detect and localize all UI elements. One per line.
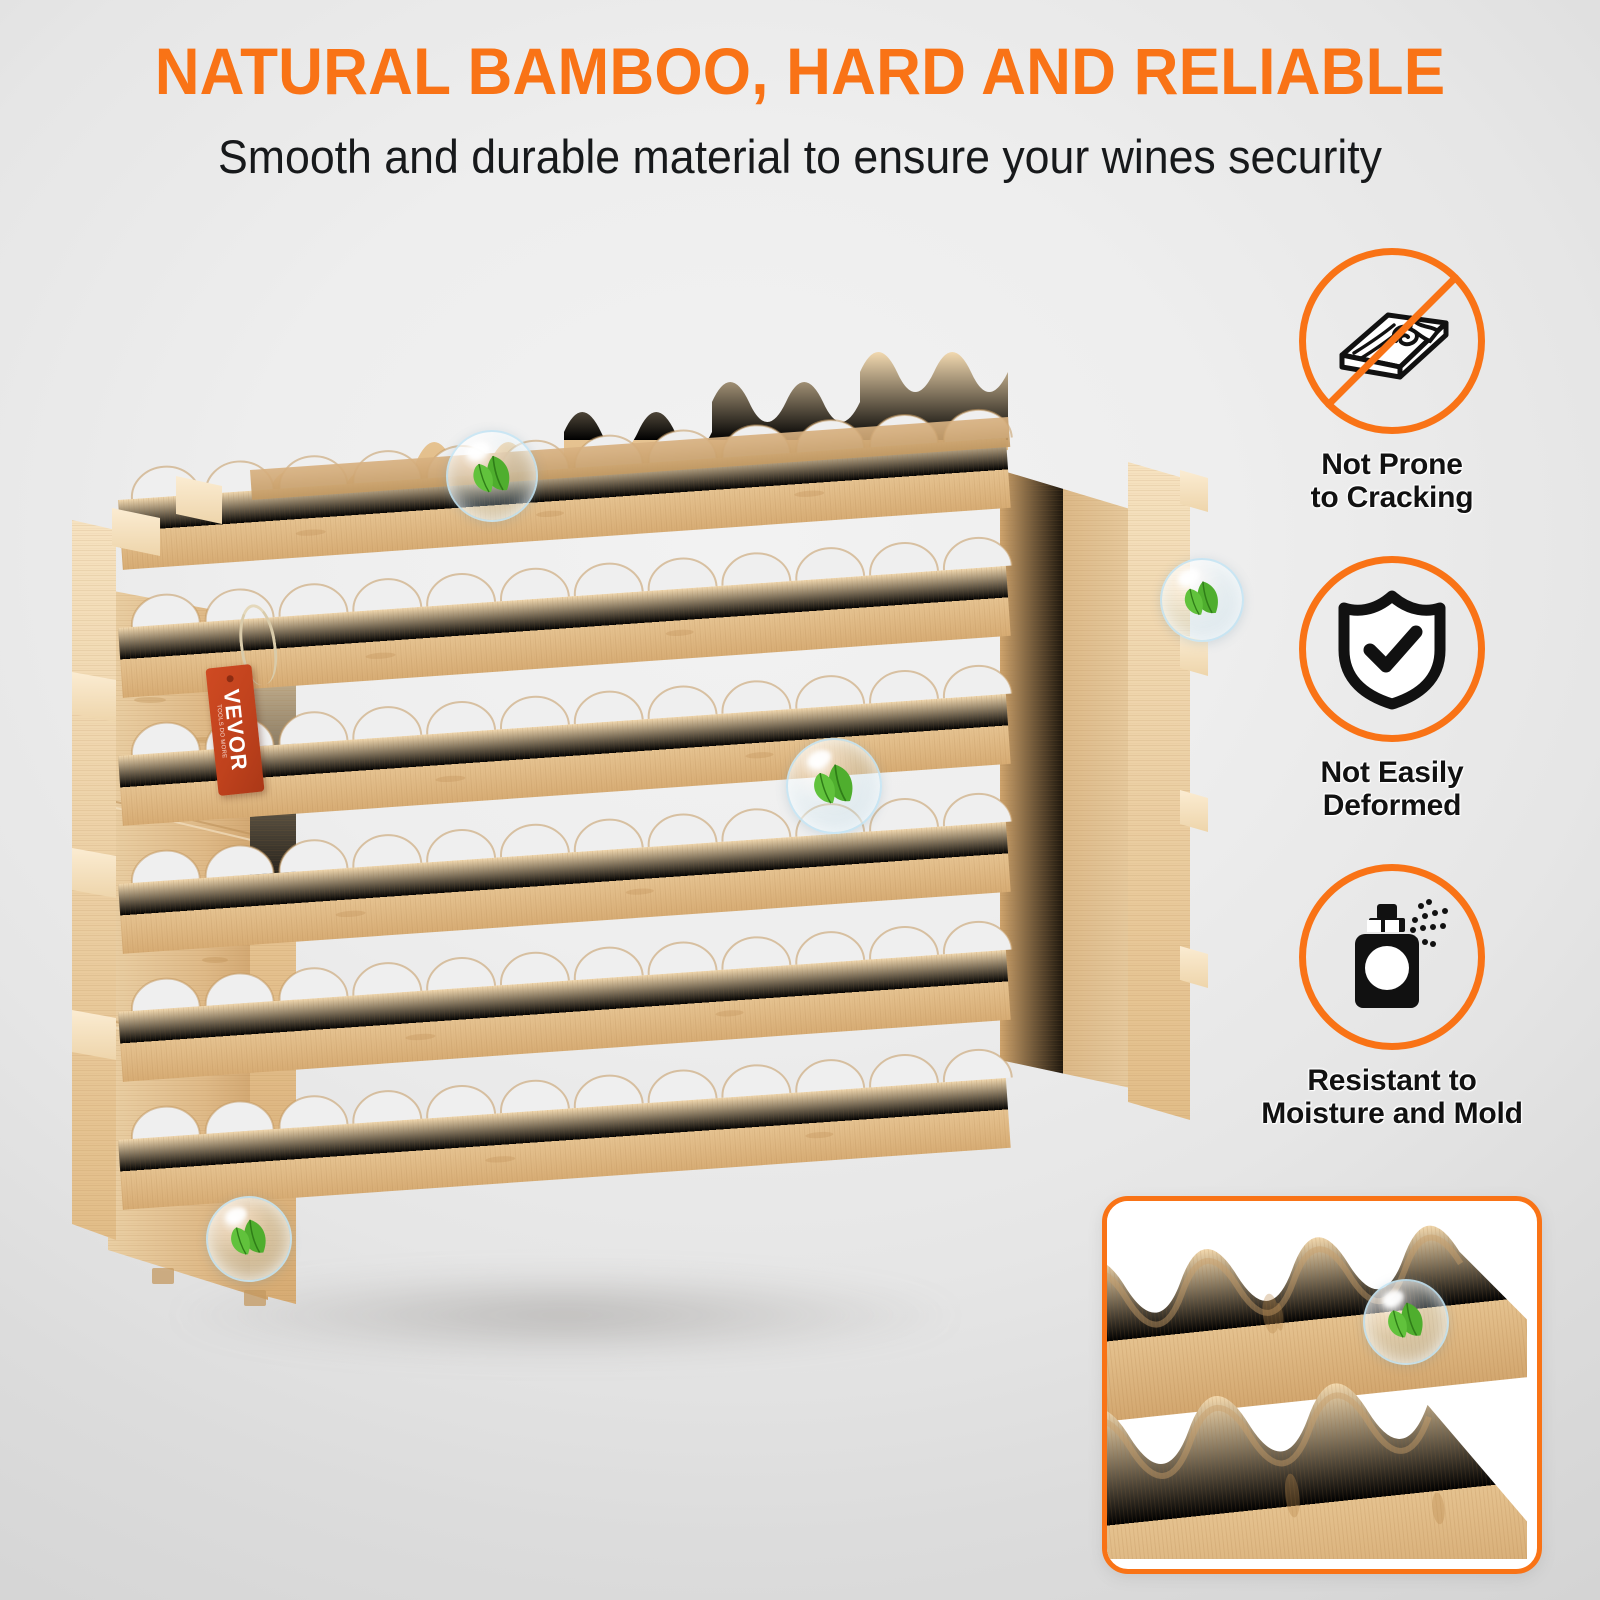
spray-bottle-icon (1299, 864, 1485, 1050)
cracked-plank-prohibited-icon (1299, 248, 1485, 434)
feature-label-line-2: Moisture and Mold (1242, 1097, 1542, 1130)
feature-label-line-2: Deformed (1242, 789, 1542, 822)
product-photo: VEVOR TOOLS DO MORE (0, 0, 1260, 1420)
product-infographic: NATURAL BAMBOO, HARD AND RELIABLE Smooth… (0, 0, 1600, 1600)
feature-not-easily-deformed: Not Easily Deformed (1242, 556, 1542, 822)
feature-label-line-1: Not Easily (1242, 756, 1542, 789)
feature-label-line-2: to Cracking (1242, 481, 1542, 514)
leaf-icon (786, 738, 882, 834)
leaf-icon (1363, 1279, 1449, 1365)
feature-label: Resistant to Moisture and Mold (1242, 1064, 1542, 1130)
wine-rack-illustration (0, 0, 1260, 1420)
feature-label: Not Prone to Cracking (1242, 448, 1542, 514)
vevor-hang-tag: VEVOR TOOLS DO MORE (196, 604, 326, 804)
leaf-bubble-bottom-left (206, 1196, 292, 1282)
leaf-icon (1160, 558, 1244, 642)
spray-bottle-glyph (1299, 864, 1485, 1050)
feature-list: Not Prone to Cracking Not Easily Deforme… (1242, 248, 1542, 1172)
leaf-bubble-inset (1363, 1279, 1449, 1365)
closeup-inset-panel (1102, 1196, 1542, 1574)
leaf-bubble-top-left (446, 430, 538, 522)
leaf-icon (446, 430, 538, 522)
feature-label: Not Easily Deformed (1242, 756, 1542, 822)
feature-label-line-1: Not Prone (1242, 448, 1542, 481)
closeup-bamboo-rails (1107, 1201, 1527, 1559)
shield-check-icon (1299, 556, 1485, 742)
tag-hole (226, 675, 234, 683)
leaf-icon (206, 1196, 292, 1282)
feature-label-line-1: Resistant to (1242, 1064, 1542, 1097)
feature-resistant-to-moisture-and-mold: Resistant to Moisture and Mold (1242, 864, 1542, 1130)
shield-glyph (1299, 556, 1485, 742)
leaf-bubble-right (1160, 558, 1244, 642)
feature-not-prone-to-cracking: Not Prone to Cracking (1242, 248, 1542, 514)
leaf-bubble-center (786, 738, 882, 834)
